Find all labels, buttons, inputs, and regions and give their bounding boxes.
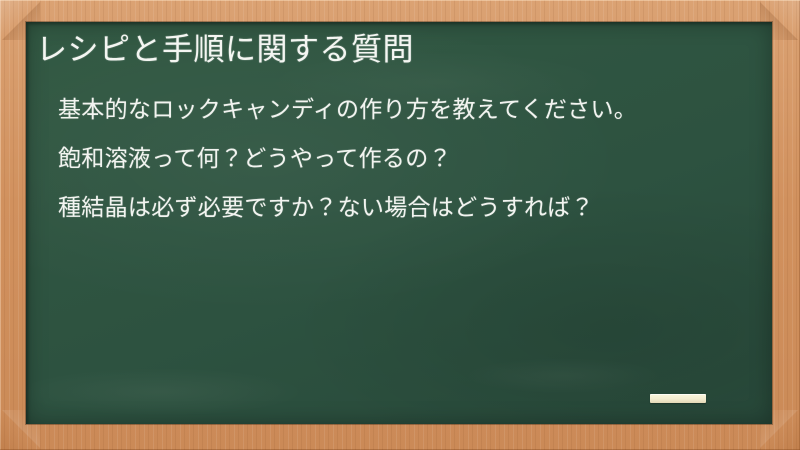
list-item: 種結晶は必ず必要ですか？ない場合はどうすれば？ (58, 191, 738, 226)
question-list: 基本的なロックキャンディの作り方を教えてください。 飽和溶液って何？どうやって作… (36, 93, 756, 226)
chalkboard-frame: レシピと手順に関する質問 基本的なロックキャンディの作り方を教えてください。 飽… (0, 0, 800, 450)
page-title: レシピと手順に関する質問 (36, 30, 756, 71)
chalk-stick-icon (650, 394, 706, 403)
board-content: レシピと手順に関する質問 基本的なロックキャンディの作り方を教えてください。 飽… (26, 22, 772, 226)
list-item: 飽和溶液って何？どうやって作るの？ (58, 142, 738, 177)
chalkboard-surface: レシピと手順に関する質問 基本的なロックキャンディの作り方を教えてください。 飽… (26, 22, 772, 424)
list-item: 基本的なロックキャンディの作り方を教えてください。 (58, 93, 738, 128)
